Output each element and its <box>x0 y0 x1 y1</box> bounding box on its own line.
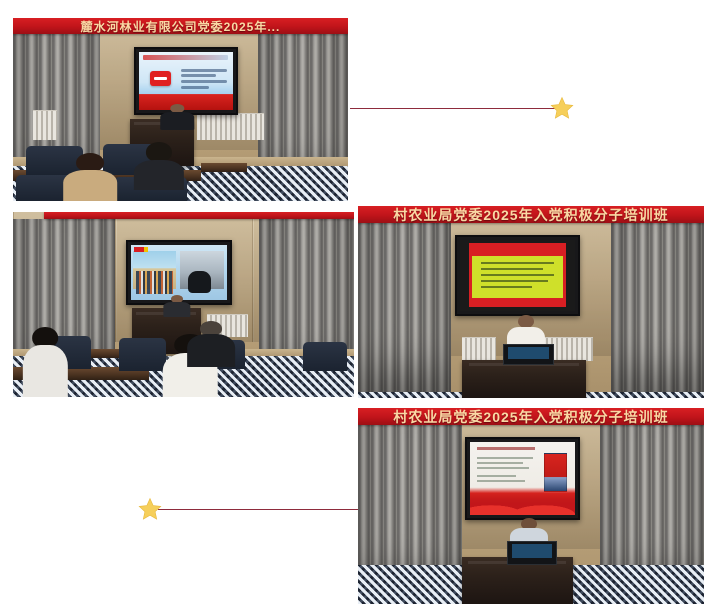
photo-4-presentation-screen <box>465 437 580 519</box>
photo-1-presenter <box>160 104 194 130</box>
photo-female-speaker-podium[interactable]: 村农业局党委2025年入党积极分子培训班 <box>358 206 704 398</box>
photo-3-presentation-screen <box>455 235 580 316</box>
photo-1-audience-member <box>63 153 117 201</box>
star-icon-bottom-left <box>138 497 162 521</box>
connector-line-bottom-left <box>158 509 358 510</box>
slide-white-red-portrait <box>470 442 575 514</box>
slide-blue-red-certificate <box>139 52 234 110</box>
photo-1-banner-text: 麓水河林业有限公司党委2025年... <box>81 18 281 34</box>
photo-2-banner <box>44 212 354 219</box>
photo-3-banner: 村农业局党委2025年入党积极分子培训班 <box>358 206 704 223</box>
photo-meeting-room-presenter[interactable]: 麓水河林业有限公司党委2025年... <box>13 18 348 201</box>
photo-3-banner-text: 村农业局党委2025年入党积极分子培训班 <box>393 206 668 223</box>
photo-meeting-room-photo-slide[interactable] <box>13 212 354 397</box>
photo-2-presenter <box>163 295 190 317</box>
photo-1-banner: 麓水河林业有限公司党委2025年... <box>13 18 348 34</box>
slide-field-photo <box>131 245 227 300</box>
photo-male-speaker-podium[interactable]: 村农业局党委2025年入党积极分子培训班 <box>358 408 704 604</box>
photo-2-audience-member <box>187 321 235 367</box>
photo-collage: 麓水河林业有限公司党委2025年... <box>0 0 704 614</box>
photo-4-banner: 村农业局党委2025年入党积极分子培训班 <box>358 408 704 425</box>
photo-3-laptop <box>503 344 553 365</box>
connector-line-top-right <box>350 108 555 109</box>
star-icon-top-right <box>550 96 574 120</box>
photo-1-audience-member <box>134 142 184 190</box>
photo-4-laptop <box>507 541 557 565</box>
photo-4-banner-text: 村农业局党委2025年入党积极分子培训班 <box>393 408 668 425</box>
photo-2-audience-member <box>23 327 67 397</box>
slide-green-red-text <box>460 240 575 311</box>
